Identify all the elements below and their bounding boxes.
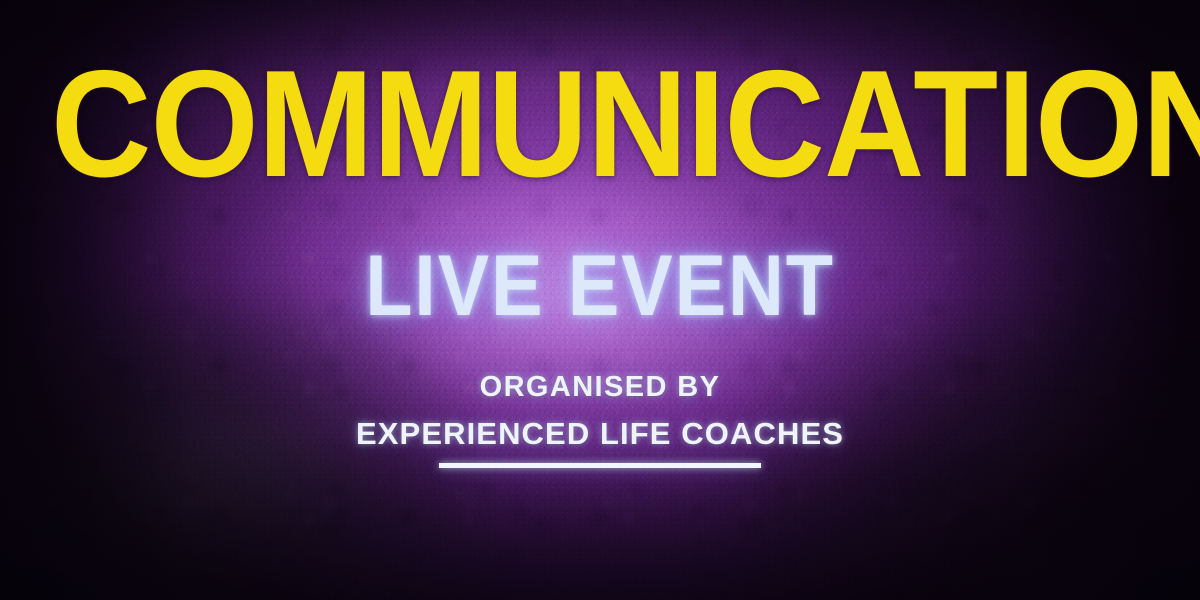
credit-organiser-name: EXPERIENCED LIFE COACHES (0, 415, 1200, 453)
event-banner: COMMUNICATION LIVE EVENT ORGANISED BY EX… (0, 0, 1200, 600)
banner-credit-block: ORGANISED BY EXPERIENCED LIFE COACHES (0, 370, 1200, 468)
banner-subheadline: LIVE EVENT (60, 243, 1140, 329)
credit-organised-by-label: ORGANISED BY (0, 370, 1200, 405)
banner-headline: COMMUNICATION (51, 48, 1149, 200)
credit-underline-rule (439, 463, 761, 468)
banner-content: COMMUNICATION LIVE EVENT ORGANISED BY EX… (0, 0, 1200, 600)
